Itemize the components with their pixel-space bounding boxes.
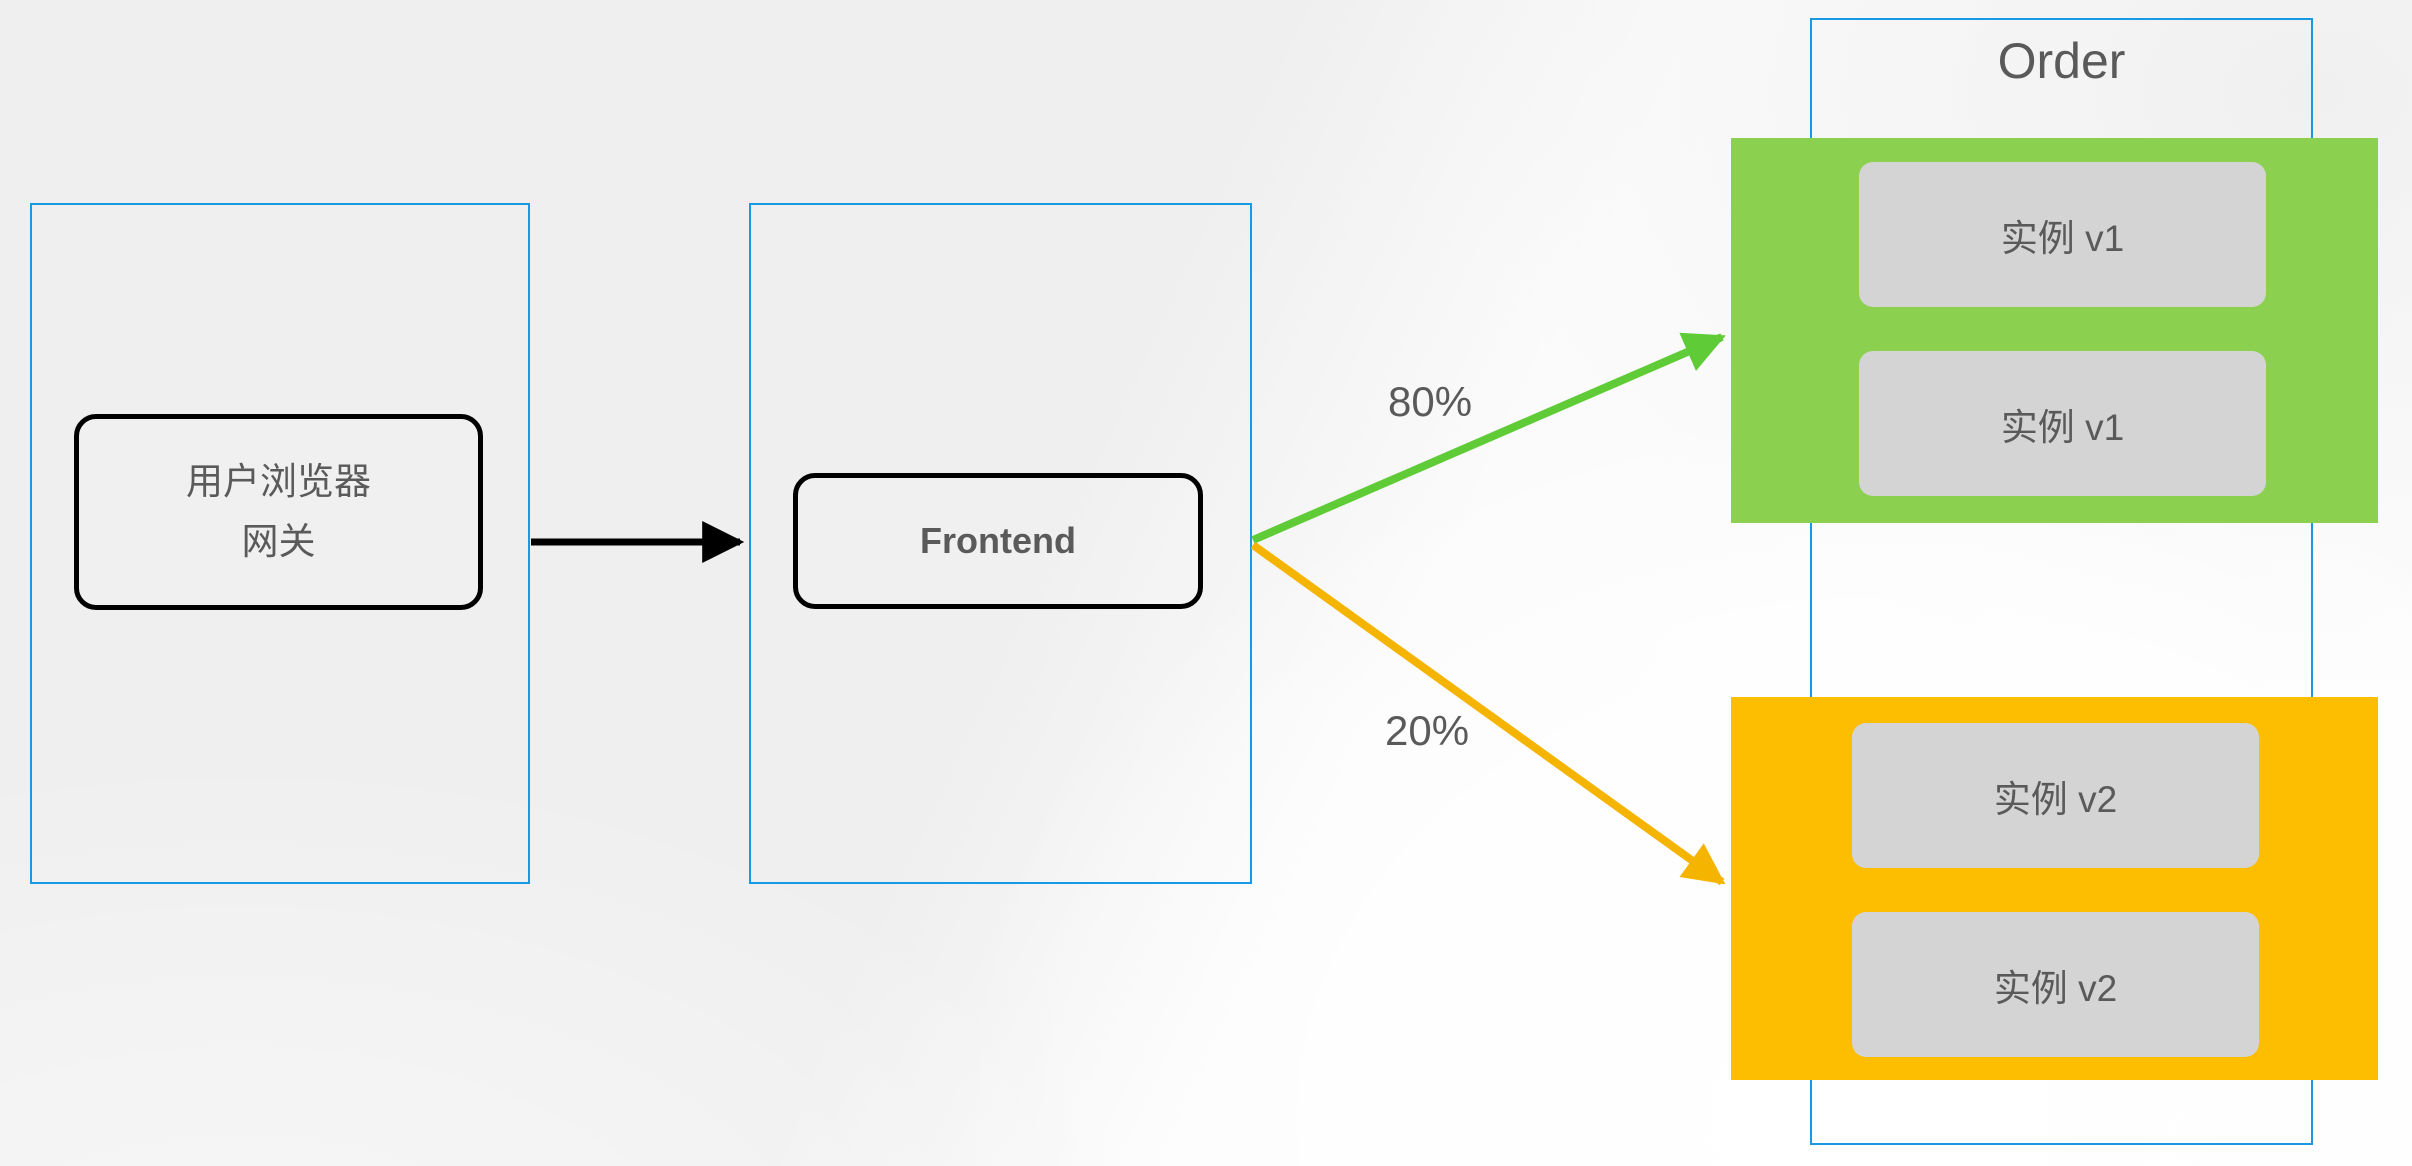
instance-card-v1-b[interactable]: 实例 v1 xyxy=(1859,351,2266,496)
node-client-line-2: 网关 xyxy=(242,512,316,572)
instance-card-v2-a[interactable]: 实例 v2 xyxy=(1852,723,2259,868)
instance-card-v1-a[interactable]: 实例 v1 xyxy=(1859,162,2266,307)
instance-card-v1-b-label: 实例 v1 xyxy=(2001,397,2124,451)
node-client-line-1: 用户浏览器 xyxy=(186,452,371,512)
group-order-title: Order xyxy=(1810,36,2313,86)
instance-card-v1-a-label: 实例 v1 xyxy=(2001,208,2124,262)
edge-label-80-percent: 80% xyxy=(1388,381,1472,423)
instance-card-v2-b-label: 实例 v2 xyxy=(1994,958,2117,1012)
edge-frontend-to-v2 xyxy=(1253,545,1722,882)
edge-frontend-to-v1 xyxy=(1253,337,1722,540)
instance-card-v2-b[interactable]: 实例 v2 xyxy=(1852,912,2259,1057)
node-client-gateway[interactable]: 用户浏览器 网关 xyxy=(74,414,483,610)
instance-card-v2-a-label: 实例 v2 xyxy=(1994,769,2117,823)
diagram-canvas: 用户浏览器 网关 Frontend Order 实例 v1 实例 v1 实例 v… xyxy=(0,0,2412,1166)
edge-label-20-percent: 20% xyxy=(1385,710,1469,752)
node-frontend-label: Frontend xyxy=(920,512,1076,570)
node-frontend[interactable]: Frontend xyxy=(793,473,1203,609)
